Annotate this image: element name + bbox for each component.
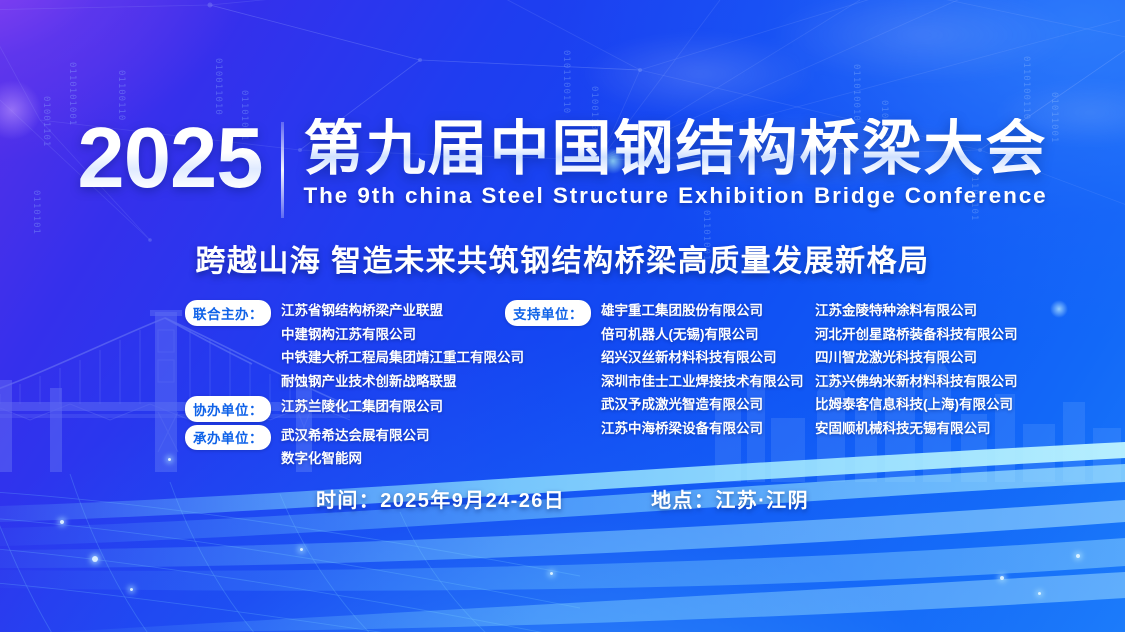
badge-co-host: 联合主办： — [185, 300, 271, 326]
list-item: 数字化智能网 — [281, 447, 430, 471]
supporter-name-list-2: 江苏金陵特种涂料有限公司 河北开创星路桥装备科技有限公司 四川智龙激光科技有限公… — [815, 299, 1105, 440]
list-item: 雄宇重工集团股份有限公司 — [601, 299, 804, 323]
conference-banner: 01001101 0110101001 01100110 010011010 0… — [0, 0, 1125, 632]
organizer-column-1: 联合主办： 江苏省钢结构桥梁产业联盟 中建钢构江苏有限公司 中铁建大桥工程局集团… — [185, 299, 505, 473]
list-item: 江苏省钢结构桥梁产业联盟 — [281, 299, 524, 323]
organizer-name-list: 江苏兰陵化工集团有限公司 — [281, 395, 443, 419]
list-item: 耐蚀钢产业技术创新战略联盟 — [281, 370, 524, 394]
list-item: 倍可机器人(无锡)有限公司 — [601, 323, 804, 347]
organizer-group: 承办单位： 武汉希希达会展有限公司 数字化智能网 — [185, 424, 505, 471]
supporter-name-list: 雄宇重工集团股份有限公司 倍可机器人(无锡)有限公司 绍兴汉丝新材料科技有限公司… — [601, 299, 804, 440]
list-item: 绍兴汉丝新材料科技有限公司 — [601, 346, 804, 370]
list-item: 安固顺机械科技无锡有限公司 — [815, 417, 1105, 441]
location-value: 江苏·江阴 — [715, 490, 809, 512]
list-item: 江苏金陵特种涂料有限公司 — [815, 299, 1105, 323]
date-label: 时间： — [316, 490, 380, 512]
title-row: 2025 第九届中国钢结构桥梁大会 The 9th china Steel St… — [0, 118, 1125, 218]
list-item: 江苏兴佛纳米新材料科技有限公司 — [815, 370, 1105, 394]
organizer-group: 协办单位： 江苏兰陵化工集团有限公司 — [185, 395, 505, 422]
list-item: 武汉希希达会展有限公司 — [281, 424, 430, 448]
badge-supporting-unit: 支持单位： — [505, 300, 591, 326]
list-item: 河北开创星路桥装备科技有限公司 — [815, 323, 1105, 347]
list-item: 中建钢构江苏有限公司 — [281, 323, 524, 347]
slogan-text: 跨越山海 智造未来共筑钢结构桥梁高质量发展新格局 — [0, 236, 1125, 280]
badge-co-organizer: 协办单位： — [185, 396, 271, 422]
list-item: 武汉予成激光智造有限公司 — [601, 393, 804, 417]
location-label: 地点： — [651, 490, 715, 512]
page-title: 第九届中国钢结构桥梁大会 — [304, 118, 1048, 179]
organizer-name-list: 江苏省钢结构桥梁产业联盟 中建钢构江苏有限公司 中铁建大桥工程局集团靖江重工有限… — [281, 299, 524, 393]
list-item: 江苏兰陵化工集团有限公司 — [281, 395, 443, 419]
badge-host-unit: 承办单位： — [185, 425, 271, 451]
organizer-name-list: 武汉希希达会展有限公司 数字化智能网 — [281, 424, 430, 471]
list-item: 江苏中海桥梁设备有限公司 — [601, 417, 804, 441]
list-item: 深圳市佳士工业焊接技术有限公司 — [601, 370, 804, 394]
organizer-group: 联合主办： 江苏省钢结构桥梁产业联盟 中建钢构江苏有限公司 中铁建大桥工程局集团… — [185, 299, 505, 393]
list-item: 中铁建大桥工程局集团靖江重工有限公司 — [281, 346, 524, 370]
organizer-group: 支持单位： 雄宇重工集团股份有限公司 倍可机器人(无锡)有限公司 绍兴汉丝新材料… — [505, 299, 805, 440]
date-value: 2025年9月24-26日 — [380, 490, 565, 512]
english-subtitle: The 9th china Steel Structure Exhibition… — [304, 183, 1048, 209]
event-details-footer: 时间：2025年9月24-26日 地点：江苏·江阴 — [0, 484, 1125, 513]
organizer-column-2: 支持单位： 雄宇重工集团股份有限公司 倍可机器人(无锡)有限公司 绍兴汉丝新材料… — [505, 299, 805, 442]
list-item: 比姆泰客信息科技(上海)有限公司 — [815, 393, 1105, 417]
year-2025: 2025 — [77, 118, 280, 200]
organizer-column-3: 江苏金陵特种涂料有限公司 河北开创星路桥装备科技有限公司 四川智龙激光科技有限公… — [805, 299, 1105, 440]
list-item: 四川智龙激光科技有限公司 — [815, 346, 1105, 370]
